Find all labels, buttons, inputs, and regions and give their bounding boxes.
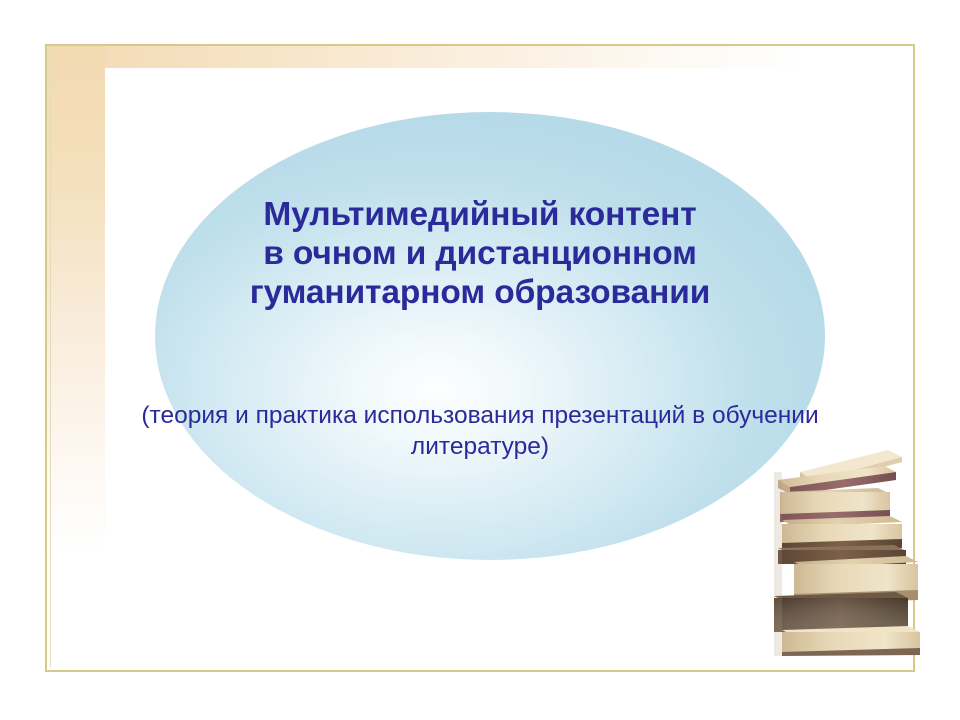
presentation-slide: Мультимедийный контент в очном и дистанц… bbox=[0, 0, 960, 720]
subtitle-line-2: литературе) bbox=[30, 432, 930, 463]
text-layer: Мультимедийный контент в очном и дистанц… bbox=[0, 0, 960, 720]
page-title: Мультимедийный контент в очном и дистанц… bbox=[30, 196, 930, 313]
page-subtitle: (теория и практика использования презент… bbox=[30, 401, 930, 463]
title-line-3: гуманитарном образовании bbox=[30, 274, 930, 313]
title-line-2: в очном и дистанционном bbox=[30, 235, 930, 274]
subtitle-line-1: (теория и практика использования презент… bbox=[30, 401, 930, 432]
title-line-1: Мультимедийный контент bbox=[30, 196, 930, 235]
